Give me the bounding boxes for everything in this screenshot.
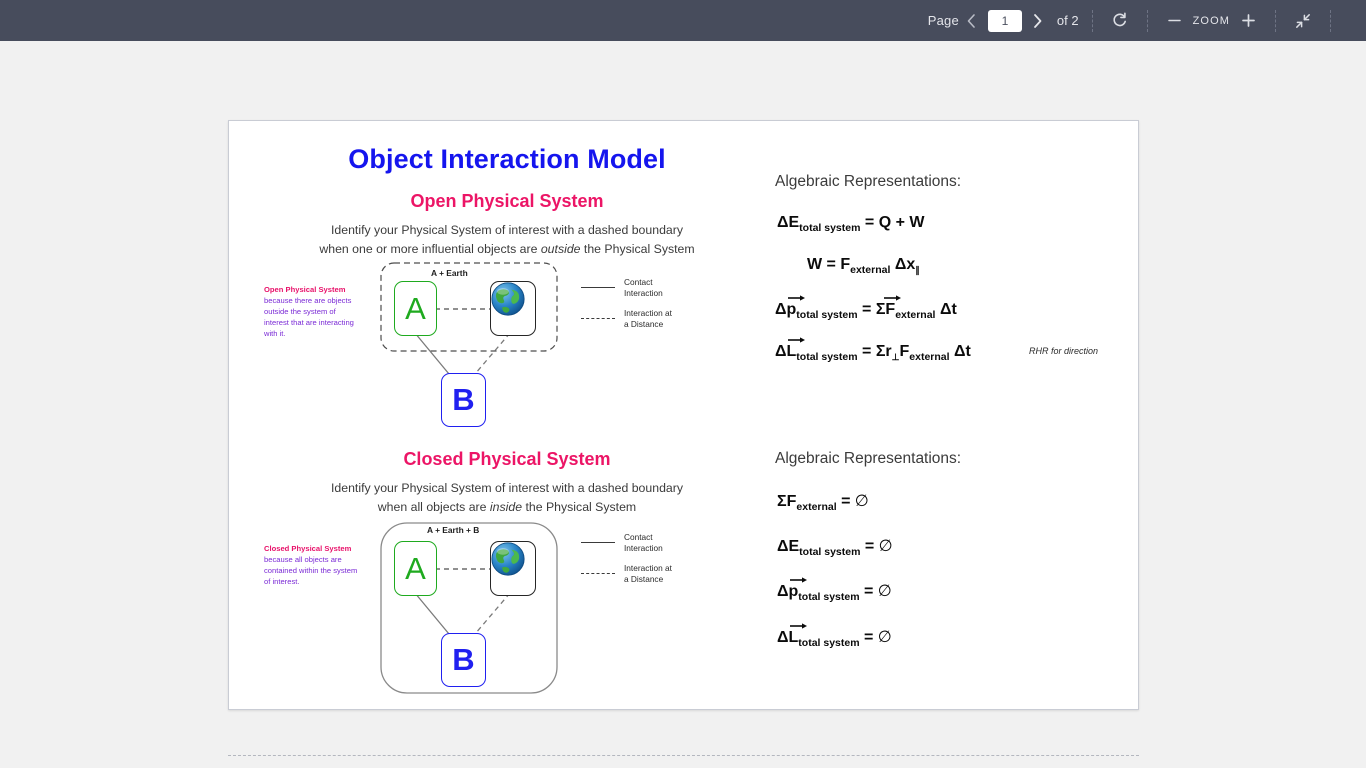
legend-contact-text: Contact Interaction bbox=[624, 277, 663, 299]
object-b-label: B bbox=[452, 382, 474, 418]
open-desc-emphasis: outside bbox=[541, 242, 581, 256]
closed-system-legend: Contact Interaction Interaction at a Dis… bbox=[581, 532, 672, 594]
open-system-description: Identify your Physical System of interes… bbox=[292, 221, 722, 258]
object-a-label: A bbox=[405, 551, 426, 587]
vector-l: L bbox=[789, 629, 799, 647]
page-title: Object Interaction Model bbox=[297, 144, 717, 175]
exit-fullscreen-icon[interactable] bbox=[1289, 7, 1317, 35]
object-a-box: A bbox=[394, 541, 437, 596]
sigma-symbol: Σ bbox=[876, 343, 886, 360]
equals-symbol: = bbox=[827, 256, 836, 273]
legend-item-contact: Contact Interaction bbox=[581, 277, 672, 299]
equation-work-open: W = Fexternal Δx∥ bbox=[807, 256, 920, 274]
earth-globe-icon bbox=[491, 542, 525, 576]
earth-globe-icon bbox=[491, 282, 525, 316]
next-page-button[interactable] bbox=[1025, 8, 1051, 34]
page-count-label: of 2 bbox=[1057, 13, 1079, 28]
previous-page-button[interactable] bbox=[959, 8, 985, 34]
subscript-total-system: total system bbox=[799, 546, 860, 558]
equals-symbol: = bbox=[841, 493, 850, 510]
open-algebra-heading: Algebraic Representations: bbox=[775, 173, 961, 191]
zero-symbol: ∅ bbox=[879, 536, 893, 555]
sigma-symbol: Σ bbox=[777, 493, 787, 510]
rotate-icon[interactable] bbox=[1106, 7, 1134, 35]
legend-distance-line2: a Distance bbox=[624, 319, 663, 329]
legend-contact-line1: Contact bbox=[624, 532, 653, 542]
open-note-bold: Open Physical System bbox=[264, 285, 345, 294]
vector-arrow-icon bbox=[884, 294, 901, 301]
dashed-line-icon bbox=[581, 573, 615, 574]
closed-desc-pre: when all objects are bbox=[378, 500, 490, 514]
zero-symbol: ∅ bbox=[878, 581, 892, 600]
page-number-input[interactable] bbox=[988, 10, 1022, 32]
delta-symbol: Δ bbox=[777, 538, 789, 555]
dashed-line-icon bbox=[581, 318, 615, 319]
delta-t-symbol: Δt bbox=[940, 301, 957, 318]
equation-angular-momentum-open: ΔLtotal system = Σr⊥Fexternal Δt bbox=[775, 343, 971, 361]
closed-algebra-heading: Algebraic Representations: bbox=[775, 450, 961, 468]
subscript-total-system: total system bbox=[798, 591, 859, 603]
legend-distance-line1: Interaction at bbox=[624, 308, 672, 318]
object-a-label: A bbox=[405, 291, 426, 327]
vector-arrow-icon bbox=[788, 294, 805, 301]
zoom-in-button[interactable] bbox=[1234, 7, 1262, 35]
subscript-external: external bbox=[850, 264, 890, 276]
subscript-total-system: total system bbox=[798, 637, 859, 649]
equation-momentum-open: Δptotal system = ΣFexternal Δt bbox=[775, 301, 957, 319]
delta-symbol: Δ bbox=[777, 629, 789, 646]
open-boundary-label: A + Earth bbox=[431, 268, 468, 278]
equation-energy-closed: ΔEtotal system = ∅ bbox=[777, 536, 893, 556]
delta-symbol: Δ bbox=[777, 583, 789, 600]
equals-symbol: = bbox=[864, 629, 873, 646]
equals-symbol: = bbox=[862, 343, 871, 360]
vector-arrow-icon bbox=[788, 336, 805, 343]
page-label: Page bbox=[928, 13, 959, 28]
parallel-symbol: ∥ bbox=[915, 265, 920, 275]
legend-distance-line1: Interaction at bbox=[624, 563, 672, 573]
toolbar-divider bbox=[1092, 10, 1093, 32]
delta-symbol: Δ bbox=[777, 214, 789, 231]
equation-angular-momentum-closed: ΔLtotal system = ∅ bbox=[777, 627, 892, 647]
zero-symbol: ∅ bbox=[878, 627, 892, 646]
open-system-annotation: Open Physical System because there are o… bbox=[264, 285, 359, 340]
vector-p: p bbox=[789, 583, 799, 601]
open-system-legend: Contact Interaction Interaction at a Dis… bbox=[581, 277, 672, 339]
legend-item-contact: Contact Interaction bbox=[581, 532, 672, 554]
closed-system-diagram: A + Earth + B A B bbox=[379, 521, 579, 696]
object-earth-box bbox=[490, 281, 536, 336]
object-b-box: B bbox=[441, 373, 486, 427]
closed-system-annotation: Closed Physical System because all objec… bbox=[264, 544, 359, 588]
open-desc-pre: when one or more influential objects are bbox=[319, 242, 540, 256]
subscript-external: external bbox=[909, 351, 949, 363]
object-earth-box bbox=[490, 541, 536, 596]
subscript-external: external bbox=[895, 309, 935, 321]
open-system-diagram: A + Earth A bbox=[379, 261, 579, 431]
equation-momentum-closed: Δptotal system = ∅ bbox=[777, 581, 892, 601]
legend-distance-text: Interaction at a Distance bbox=[624, 308, 672, 330]
legend-contact-line1: Contact bbox=[624, 277, 653, 287]
closed-system-description: Identify your Physical System of interes… bbox=[292, 479, 722, 516]
legend-distance-text: Interaction at a Distance bbox=[624, 563, 672, 585]
open-desc-post: the Physical System bbox=[581, 242, 695, 256]
vector-arrow-icon bbox=[790, 622, 807, 629]
object-b-label: B bbox=[452, 642, 474, 678]
object-a-box: A bbox=[394, 281, 437, 336]
toolbar-divider bbox=[1330, 10, 1331, 32]
vector-p: p bbox=[787, 301, 797, 319]
zero-symbol: ∅ bbox=[855, 491, 869, 510]
subscript-total-system: total system bbox=[796, 351, 857, 363]
legend-contact-text: Contact Interaction bbox=[624, 532, 663, 554]
slide-content: Object Interaction Model Open Physical S… bbox=[229, 121, 1138, 709]
solid-line-icon bbox=[581, 287, 615, 288]
closed-desc-post: the Physical System bbox=[522, 500, 636, 514]
legend-distance-line2: a Distance bbox=[624, 574, 663, 584]
open-desc-line1: Identify your Physical System of interes… bbox=[331, 223, 683, 237]
document-page[interactable]: Object Interaction Model Open Physical S… bbox=[228, 120, 1139, 710]
zoom-group: ZOOM bbox=[1161, 7, 1262, 35]
equals-symbol: = bbox=[862, 301, 871, 318]
equation-sum-force-closed: ΣFexternal = ∅ bbox=[777, 491, 869, 511]
open-note-rest: because there are objects outside the sy… bbox=[264, 296, 354, 338]
object-b-box: B bbox=[441, 633, 486, 687]
closed-system-heading: Closed Physical System bbox=[297, 449, 717, 470]
closed-note-bold: Closed Physical System bbox=[264, 544, 351, 553]
legend-item-distance: Interaction at a Distance bbox=[581, 563, 672, 585]
delta-symbol: Δ bbox=[775, 301, 787, 318]
zoom-out-button[interactable] bbox=[1161, 7, 1189, 35]
vector-sum-f: ΣF bbox=[876, 301, 895, 319]
page-separator bbox=[228, 755, 1139, 756]
legend-contact-line2: Interaction bbox=[624, 543, 663, 553]
delta-t-symbol: Δt bbox=[954, 343, 971, 360]
eq-energy-rhs: = Q + W bbox=[865, 214, 925, 231]
toolbar-divider bbox=[1147, 10, 1148, 32]
closed-boundary-label: A + Earth + B bbox=[427, 525, 479, 535]
perp-symbol: ⊥ bbox=[892, 352, 900, 362]
closed-note-rest: because all objects are contained within… bbox=[264, 555, 357, 586]
page-navigation-group: Page of 2 bbox=[928, 8, 1079, 34]
solid-line-icon bbox=[581, 542, 615, 543]
toolbar-divider bbox=[1275, 10, 1276, 32]
viewer-toolbar: Page of 2 ZOOM bbox=[0, 0, 1366, 41]
subscript-total-system: total system bbox=[796, 309, 857, 321]
delta-symbol: Δ bbox=[775, 343, 787, 360]
equation-energy-open: ΔEtotal system ΔE_total system = Q + W =… bbox=[777, 214, 924, 232]
equals-symbol: = bbox=[864, 583, 873, 600]
rhr-note: RHR for direction bbox=[1029, 346, 1098, 356]
vector-arrow-icon bbox=[790, 576, 807, 583]
subscript-external: external bbox=[796, 501, 836, 513]
vector-l: L bbox=[787, 343, 797, 361]
legend-item-distance: Interaction at a Distance bbox=[581, 308, 672, 330]
sigma-symbol: Σ bbox=[876, 301, 886, 318]
legend-contact-line2: Interaction bbox=[624, 288, 663, 298]
closed-desc-line1: Identify your Physical System of interes… bbox=[331, 481, 683, 495]
subscript-total-system: total system bbox=[799, 222, 860, 234]
closed-desc-emphasis: inside bbox=[490, 500, 522, 514]
delta-x-symbol: Δx bbox=[895, 256, 915, 273]
zoom-label: ZOOM bbox=[1193, 15, 1230, 27]
open-system-heading: Open Physical System bbox=[297, 191, 717, 212]
equals-symbol: = bbox=[865, 538, 874, 555]
